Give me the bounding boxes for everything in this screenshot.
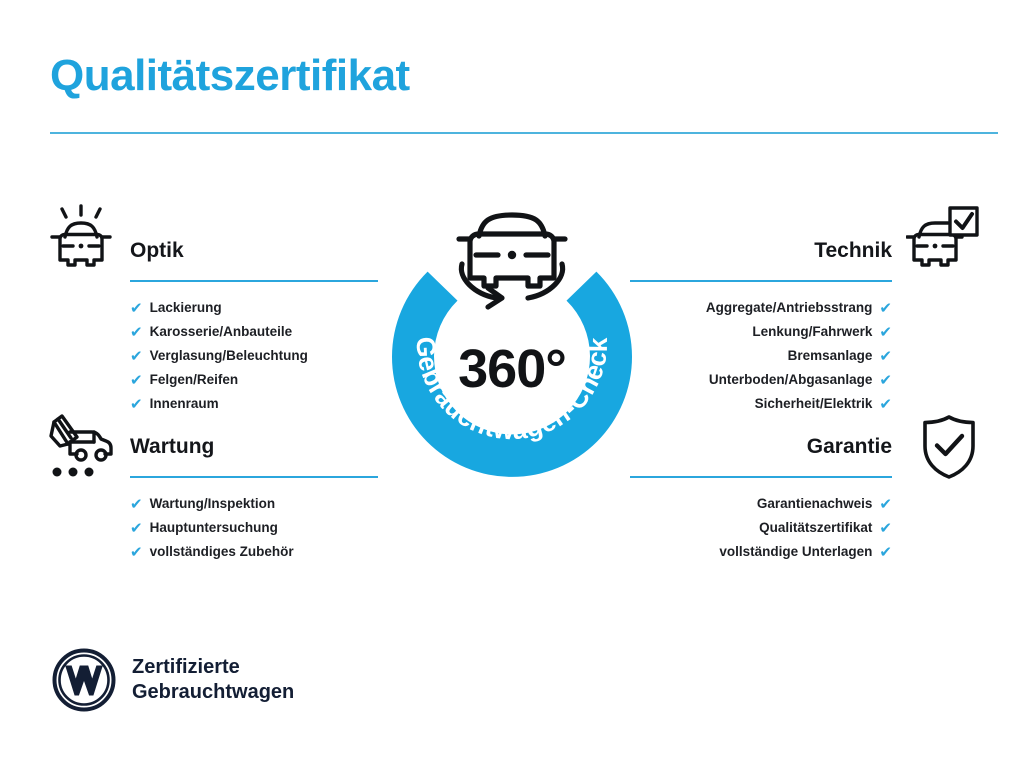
footer-logo-line2: Gebrauchtwagen xyxy=(132,680,294,705)
list-item: ✔Sicherheit/Elektrik xyxy=(630,392,892,416)
list-item-label: Verglasung/Beleuchtung xyxy=(150,344,308,368)
list-item: ✔Unterboden/Abgasanlage xyxy=(630,368,892,392)
list-item-label: Unterboden/Abgasanlage xyxy=(709,368,873,392)
list-item-label: Felgen/Reifen xyxy=(150,368,239,392)
list-item-label: Lenkung/Fahrwerk xyxy=(752,320,872,344)
section-item-list: ✔Wartung/Inspektion ✔Hauptuntersuchung ✔… xyxy=(130,478,378,564)
check-icon: ✔ xyxy=(879,325,892,340)
section-garantie: Garantie ✔Garantienachweis ✔Qualitätszer… xyxy=(630,432,892,564)
check-icon: ✔ xyxy=(130,349,143,364)
section-title: Garantie xyxy=(630,432,892,462)
list-item: ✔Wartung/Inspektion xyxy=(130,492,378,516)
list-item-label: Karosserie/Anbauteile xyxy=(150,320,293,344)
list-item: ✔Hauptuntersuchung xyxy=(130,516,378,540)
certificate-page: Qualitätszertifikat xyxy=(0,0,1024,768)
vw-logo xyxy=(52,648,116,712)
section-technik: Technik ✔Aggregate/Antriebsstrang ✔Lenku… xyxy=(630,236,892,416)
section-title: Technik xyxy=(630,236,892,266)
car-rotation-icon xyxy=(459,215,565,307)
list-item-label: vollständige Unterlagen xyxy=(719,540,872,564)
list-item: ✔Karosserie/Anbauteile xyxy=(130,320,378,344)
check-icon: ✔ xyxy=(879,545,892,560)
list-item: ✔Garantienachweis xyxy=(630,492,892,516)
check-icon: ✔ xyxy=(879,521,892,536)
page-title: Qualitätszertifikat xyxy=(50,52,410,100)
list-item-label: vollständiges Zubehör xyxy=(150,540,294,564)
list-item: ✔Bremsanlage xyxy=(630,344,892,368)
check-icon: ✔ xyxy=(879,397,892,412)
section-header-technik: Technik xyxy=(630,236,892,282)
list-item: ✔Aggregate/Antriebsstrang xyxy=(630,296,892,320)
list-item: ✔Qualitätszertifikat xyxy=(630,516,892,540)
section-wartung: Wartung ✔Wartung/Inspektion ✔Hauptunters… xyxy=(130,432,378,564)
list-item-label: Innenraum xyxy=(150,392,219,416)
section-divider xyxy=(130,280,378,282)
car-service-pen-icon xyxy=(44,410,118,484)
section-header-garantie: Garantie xyxy=(630,432,892,478)
shield-check-icon xyxy=(912,410,986,484)
list-item: ✔vollständige Unterlagen xyxy=(630,540,892,564)
list-item-label: Lackierung xyxy=(150,296,222,320)
list-item: ✔Felgen/Reifen xyxy=(130,368,378,392)
footer-logo-line1: Zertifizierte xyxy=(132,655,294,680)
check-icon: ✔ xyxy=(130,497,143,512)
badge-360-gebrauchtwagen-check: Gebrauchtwagen-Check 360° xyxy=(374,196,650,492)
list-item: ✔Verglasung/Beleuchtung xyxy=(130,344,378,368)
section-header-wartung: Wartung xyxy=(130,432,378,478)
list-item: ✔Lenkung/Fahrwerk xyxy=(630,320,892,344)
footer-logo-text: Zertifizierte Gebrauchtwagen xyxy=(132,655,294,705)
list-item-label: Hauptuntersuchung xyxy=(150,516,278,540)
footer-logo: Zertifizierte Gebrauchtwagen xyxy=(52,648,294,712)
list-item-label: Garantienachweis xyxy=(757,492,873,516)
check-icon: ✔ xyxy=(130,301,143,316)
check-icon: ✔ xyxy=(130,325,143,340)
section-header-optik: Optik xyxy=(130,236,378,282)
section-item-list: ✔Lackierung ✔Karosserie/Anbauteile ✔Verg… xyxy=(130,282,378,416)
section-divider xyxy=(630,280,892,282)
check-icon: ✔ xyxy=(130,545,143,560)
list-item-label: Wartung/Inspektion xyxy=(150,492,276,516)
car-checkbox-icon xyxy=(906,204,980,278)
check-icon: ✔ xyxy=(879,497,892,512)
check-icon: ✔ xyxy=(879,349,892,364)
check-icon: ✔ xyxy=(879,373,892,388)
header-divider xyxy=(50,132,998,134)
check-icon: ✔ xyxy=(879,301,892,316)
section-optik: Optik ✔Lackierung ✔Karosserie/Anbauteile… xyxy=(130,236,378,416)
list-item-label: Bremsanlage xyxy=(788,344,873,368)
list-item: ✔Innenraum xyxy=(130,392,378,416)
list-item-label: Qualitätszertifikat xyxy=(759,516,872,540)
list-item-label: Aggregate/Antriebsstrang xyxy=(706,296,873,320)
list-item-label: Sicherheit/Elektrik xyxy=(755,392,873,416)
section-item-list: ✔Garantienachweis ✔Qualitätszertifikat ✔… xyxy=(630,478,892,564)
badge-number: 360° xyxy=(374,342,650,396)
section-divider xyxy=(630,476,892,478)
check-icon: ✔ xyxy=(130,373,143,388)
check-icon: ✔ xyxy=(130,397,143,412)
section-title: Wartung xyxy=(130,432,378,462)
section-divider xyxy=(130,476,378,478)
car-front-lights-icon xyxy=(44,204,118,278)
list-item: ✔vollständiges Zubehör xyxy=(130,540,378,564)
list-item: ✔Lackierung xyxy=(130,296,378,320)
section-item-list: ✔Aggregate/Antriebsstrang ✔Lenkung/Fahrw… xyxy=(630,282,892,416)
check-icon: ✔ xyxy=(130,521,143,536)
section-title: Optik xyxy=(130,236,378,266)
